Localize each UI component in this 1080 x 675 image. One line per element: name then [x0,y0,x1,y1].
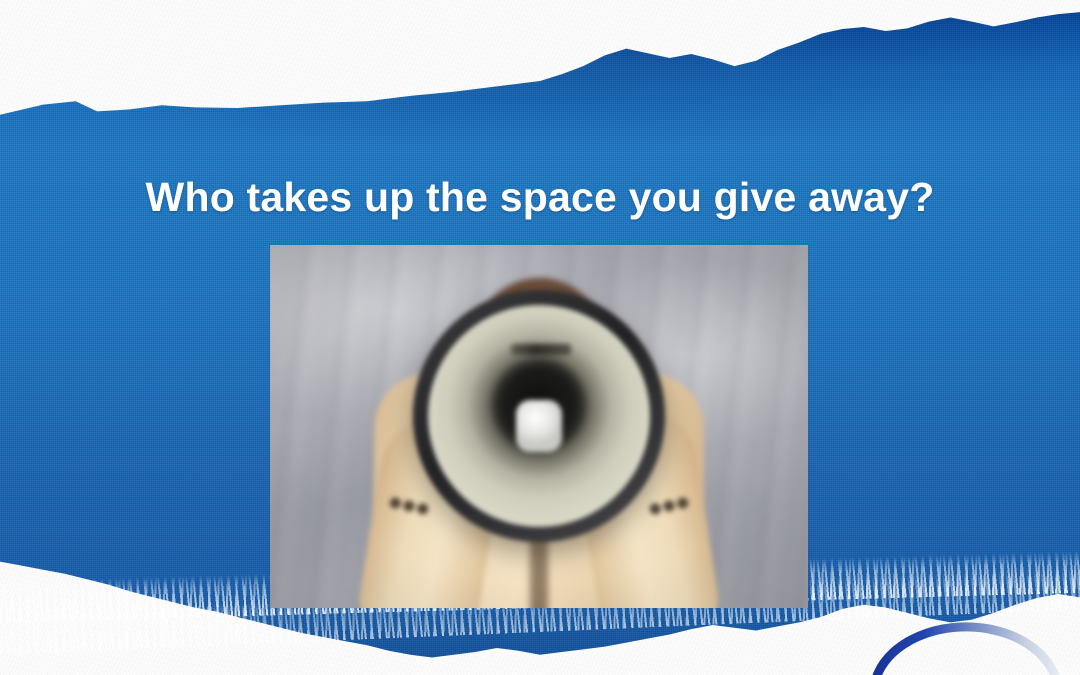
megaphone-icon [413,290,665,542]
page-title: Who takes up the space you give away? [0,175,1080,221]
megaphone-label [511,344,571,355]
hero-image [270,245,808,608]
megaphone-driver [516,400,562,452]
banner: Who takes up the space you give away? [0,0,1080,675]
person-figure [270,245,808,608]
